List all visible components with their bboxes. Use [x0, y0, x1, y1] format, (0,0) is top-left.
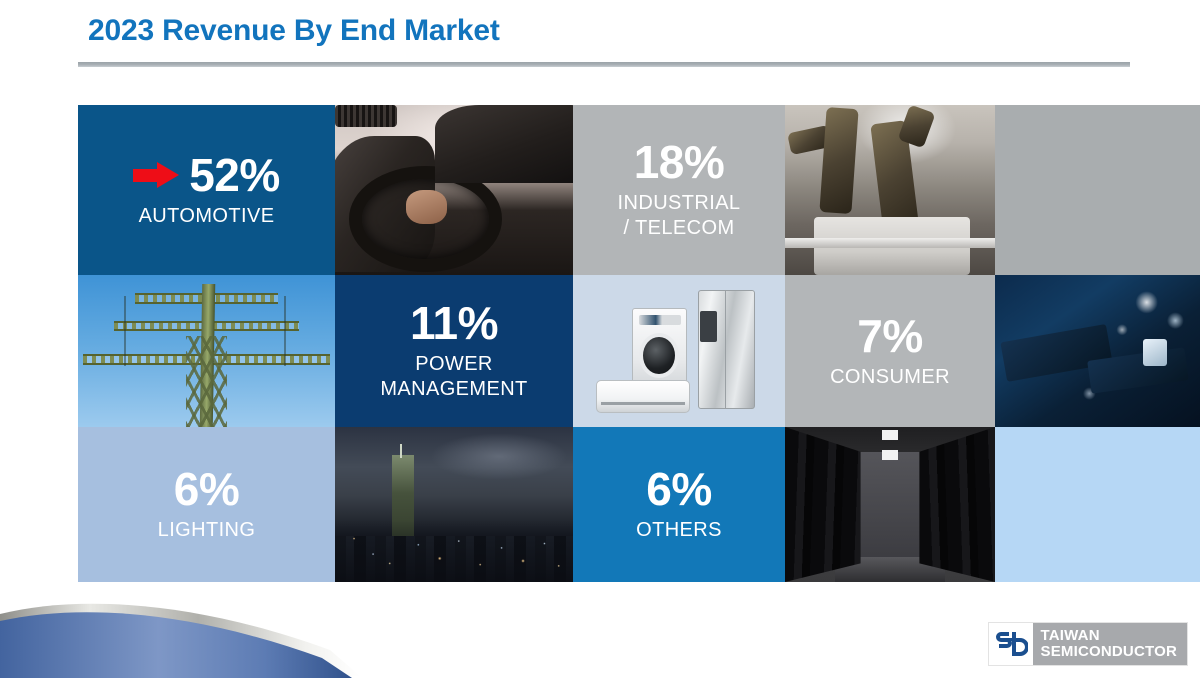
- water-dispenser-shape: [700, 311, 717, 341]
- tile-consumer-photo: [573, 275, 785, 427]
- tile-gray-filler-top-right: [995, 105, 1200, 275]
- tile-automotive-photo: [335, 105, 573, 275]
- end-market-tile-grid: 52% AUTOMOTIVE 18% INDUSTRIAL / TELECOM: [78, 105, 1200, 582]
- city-lights-shape: [335, 520, 573, 582]
- tower-spire-shape: [400, 444, 402, 458]
- lighting-label: LIGHTING: [158, 518, 256, 543]
- tile-power-management[interactable]: 11% POWER MANAGEMENT: [335, 275, 573, 427]
- lighting-percent: 6%: [174, 466, 239, 512]
- car-dashboard-shape: [435, 105, 573, 183]
- others-percent: 6%: [646, 466, 711, 512]
- tile-power-photo: [78, 275, 335, 427]
- tile-others-photo: [785, 427, 995, 582]
- logo-wordmark: TAIWAN SEMICONDUCTOR: [1033, 623, 1188, 665]
- company-logo: TAIWAN SEMICONDUCTOR: [988, 622, 1189, 666]
- washer-control-panel-shape: [639, 315, 681, 326]
- red-arrow-icon: [133, 162, 179, 188]
- consumer-label: CONSUMER: [830, 365, 950, 390]
- night-cloud-shape: [430, 433, 568, 480]
- tile-light-blue-filler-bottom-right: [995, 427, 1200, 582]
- decorative-swoosh: [0, 588, 460, 678]
- automotive-percent: 52%: [189, 152, 280, 198]
- assembly-rail-shape: [785, 238, 995, 248]
- tile-automotive[interactable]: 52% AUTOMOTIVE: [78, 105, 335, 275]
- logo-line-2: SEMICONDUCTOR: [1041, 644, 1178, 660]
- tile-industrial-photo: [785, 105, 995, 275]
- page-title: 2023 Revenue By End Market: [88, 14, 500, 48]
- tile-others[interactable]: 6% OTHERS: [573, 427, 785, 582]
- power-line-shape: [284, 296, 286, 366]
- industrial-label-line1: INDUSTRIAL: [618, 191, 741, 216]
- washer-door-shape: [639, 333, 679, 379]
- power-percent: 11%: [410, 300, 498, 346]
- automotive-value-row: 52%: [133, 152, 280, 198]
- tile-lighting-photo: [335, 427, 573, 582]
- driver-hand-shape: [406, 190, 446, 224]
- tile-industrial-telecom[interactable]: 18% INDUSTRIAL / TELECOM: [573, 105, 785, 275]
- air-vent-shape: [335, 105, 397, 127]
- tower-lattice-shape: [186, 336, 227, 427]
- slide: 2023 Revenue By End Market 52% AUTOMOTIV…: [0, 0, 1200, 678]
- industrial-label-line2: / TELECOM: [623, 216, 734, 241]
- others-label: OTHERS: [636, 518, 722, 543]
- power-line-shape: [124, 296, 126, 366]
- ceiling-light-shape: [882, 430, 899, 464]
- consumer-percent: 7%: [857, 313, 922, 359]
- robot-arm-shape: [819, 107, 858, 214]
- power-label-line2: MANAGEMENT: [380, 377, 527, 402]
- automotive-label: AUTOMOTIVE: [139, 204, 275, 229]
- tile-circuit-photo: [995, 275, 1200, 427]
- server-rack-shape: [785, 427, 861, 582]
- logo-line-1: TAIWAN: [1041, 628, 1178, 644]
- ts-monogram-icon: [989, 623, 1033, 665]
- title-underline-rule: [78, 62, 1130, 67]
- air-conditioner-shape: [596, 380, 689, 413]
- industrial-percent: 18%: [634, 139, 725, 185]
- server-rack-shape: [919, 427, 995, 582]
- server-room-wall-shape: [856, 452, 923, 564]
- power-label-line1: POWER: [415, 352, 493, 377]
- tile-consumer[interactable]: 7% CONSUMER: [785, 275, 995, 427]
- refrigerator-shape: [698, 290, 755, 409]
- circuit-component-shape: [1143, 339, 1168, 366]
- tile-lighting[interactable]: 6% LIGHTING: [78, 427, 335, 582]
